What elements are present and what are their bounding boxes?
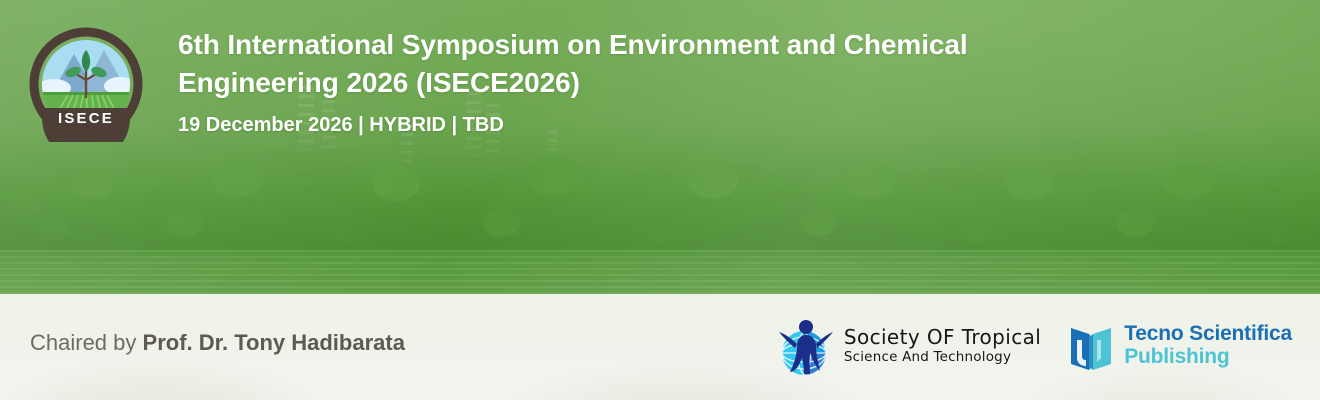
hero-banner: ISECE 6th International Symposium on Env…	[0, 0, 1320, 294]
sponsor-society-label: Society OF Tropical Science And Technolo…	[844, 327, 1041, 365]
conference-title-line-1: 6th International Symposium on Environme…	[178, 29, 968, 60]
chaired-by-label: Chaired by	[30, 330, 143, 355]
open-book-icon	[1067, 318, 1115, 374]
sponsor-tecno-label: Tecno Scientifica Publishing	[1124, 323, 1292, 368]
svg-text:ISECE: ISECE	[58, 110, 114, 127]
conference-banner: ISECE 6th International Symposium on Env…	[0, 0, 1320, 400]
sponsor-society-line-1: Society OF Tropical	[844, 327, 1041, 347]
sponsor-logos: Society OF Tropical Science And Technolo…	[773, 314, 1292, 378]
sponsor-society-of-tropical[interactable]: Society OF Tropical Science And Technolo…	[773, 314, 1041, 378]
sponsor-tecno-line-1: Tecno Scientifica	[1124, 323, 1292, 346]
conference-title: 6th International Symposium on Environme…	[178, 26, 1138, 102]
conference-date-mode: 19 December 2026 | HYBRID | TBD	[178, 112, 1178, 138]
sponsor-tecno-scientifica[interactable]: Tecno Scientifica Publishing	[1067, 318, 1292, 374]
footer-bar: Chaired by Prof. Dr. Tony Hadibarata	[0, 294, 1320, 400]
chair-name: Prof. Dr. Tony Hadibarata	[143, 330, 405, 355]
headline-block: 6th International Symposium on Environme…	[178, 26, 1178, 138]
sponsor-tecno-line-2: Publishing	[1124, 346, 1292, 369]
globe-figure-icon	[773, 314, 835, 378]
conference-title-line-2: Engineering 2026 (ISECE2026)	[178, 67, 580, 98]
sponsor-society-line-2: Science And Technology	[844, 351, 1041, 365]
chaired-by-text: Chaired by Prof. Dr. Tony Hadibarata	[30, 330, 405, 356]
isece-logo: ISECE	[28, 26, 144, 142]
